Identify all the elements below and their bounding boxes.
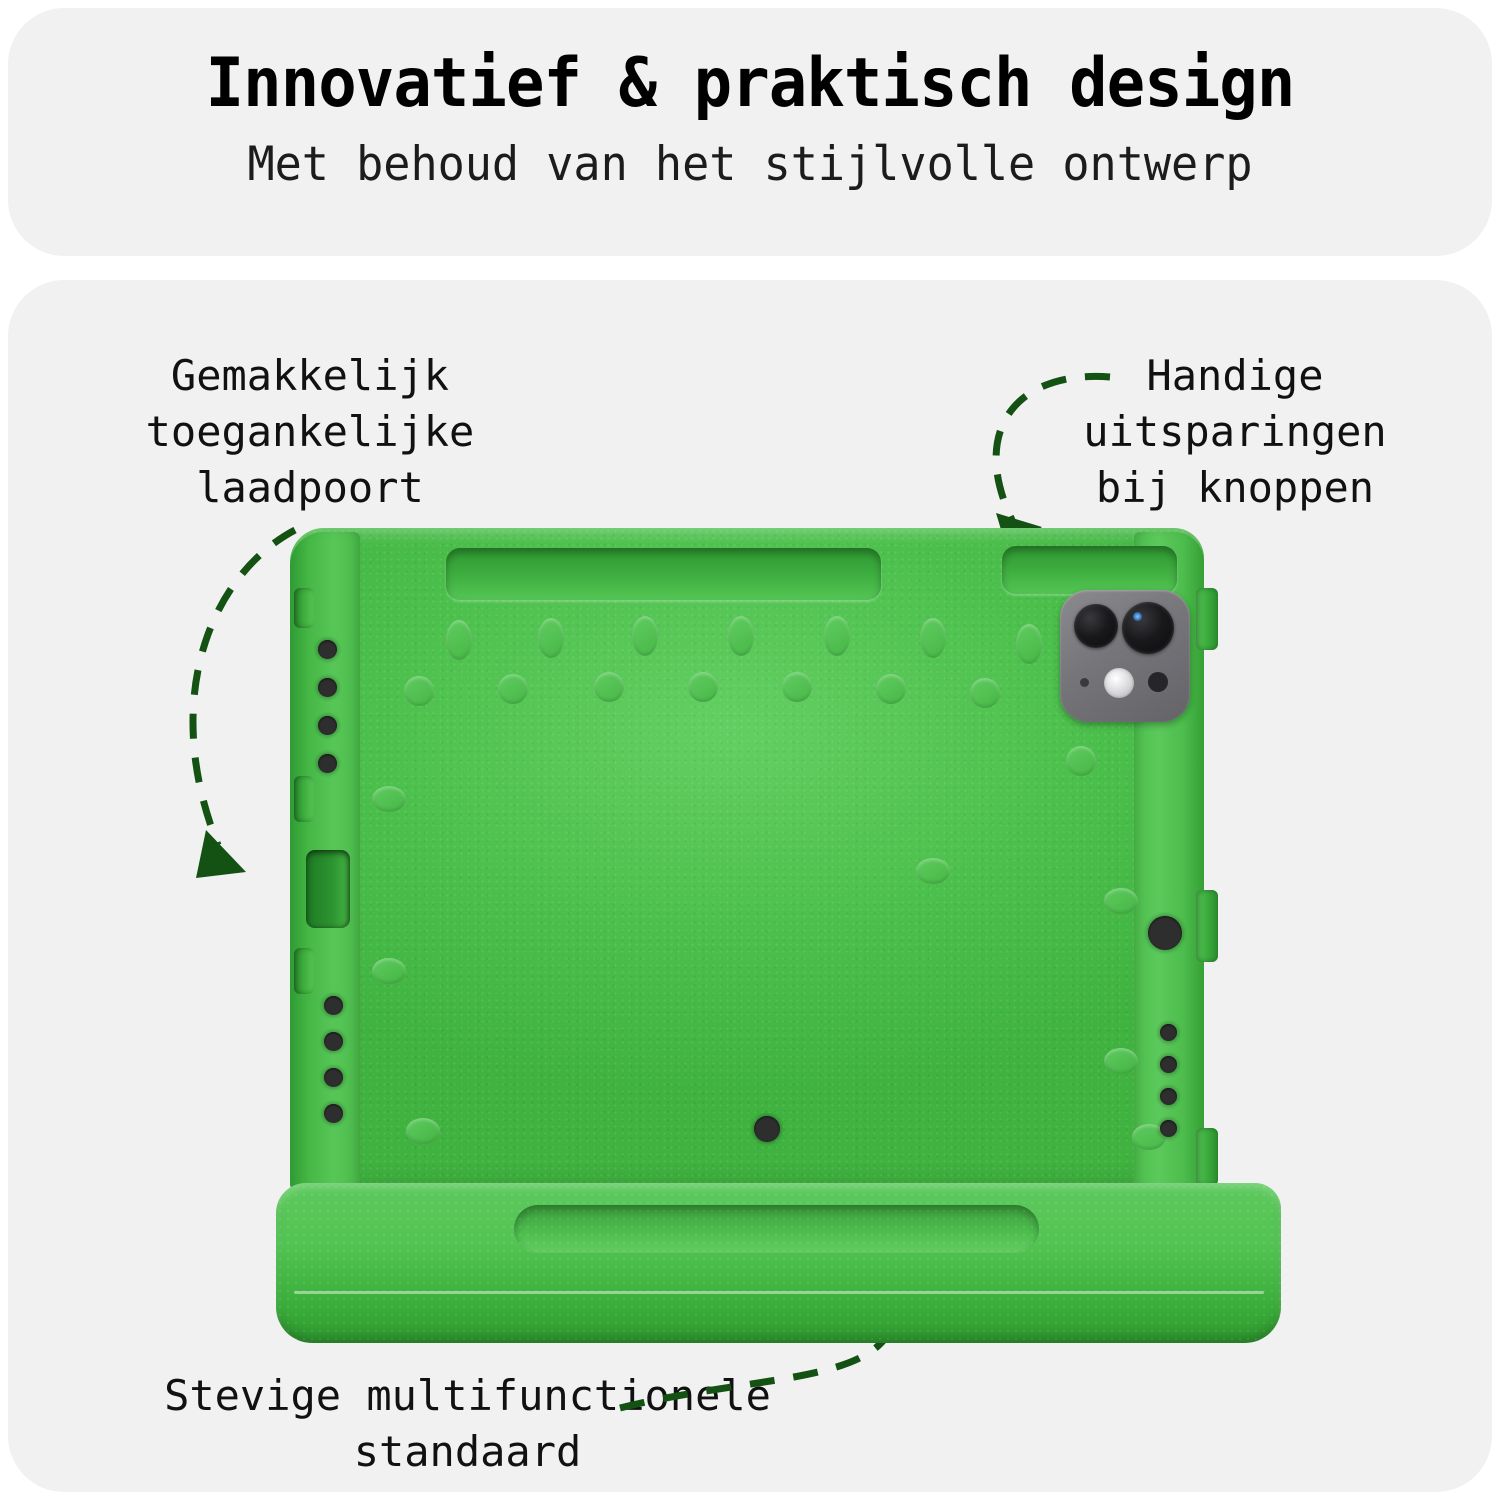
camera-sensor-dot <box>1148 672 1168 692</box>
callout-label-stand: Stevige multifunctionele standaard <box>105 1368 830 1480</box>
callout-label-button-cutouts: Handige uitsparingen bij knoppen <box>1035 348 1435 516</box>
multifunctional-stand <box>276 1183 1281 1343</box>
side-notch-left-1 <box>294 588 314 628</box>
side-notch-right-1 <box>1196 588 1218 650</box>
button-cutout-groove-top-right <box>1002 546 1177 594</box>
camera-module <box>1060 590 1190 722</box>
side-notch-left-2 <box>294 776 314 822</box>
stand-front-edge-highlight <box>294 1291 1264 1294</box>
camera-lens-secondary <box>1122 602 1174 654</box>
button-cutout-right <box>1148 916 1182 950</box>
page-title: Innovatief & praktisch design <box>45 50 1455 118</box>
stand-grip-hole <box>514 1205 1039 1253</box>
page-subtitle: Met behoud van het stijlvolle ontwerp <box>30 138 1470 192</box>
product-image-tablet-case <box>276 528 1281 1343</box>
microphone-dot <box>1080 678 1089 687</box>
bottom-center-hole <box>754 1116 780 1142</box>
callout-label-charging-port: Gemakkelijk toegankelijke laadpoort <box>90 348 530 516</box>
side-notch-right-2 <box>1196 890 1218 962</box>
side-notch-left-3 <box>294 948 314 994</box>
top-handle-groove <box>446 548 881 600</box>
charging-port-cutout <box>306 850 350 928</box>
side-notch-right-3 <box>1196 1128 1218 1186</box>
camera-lens-primary <box>1074 604 1118 648</box>
camera-flash <box>1104 668 1134 698</box>
